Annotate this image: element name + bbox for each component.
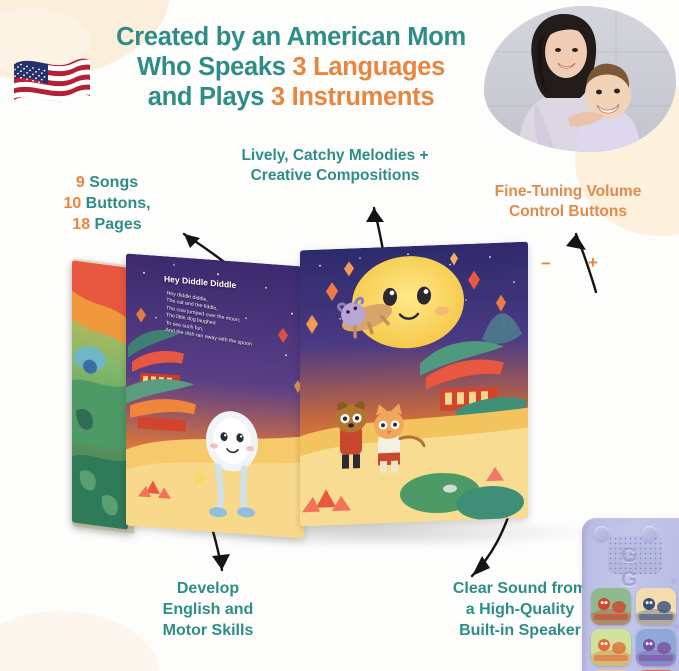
product-infographic: Created by an American Mom Who Speaks 3 … — [0, 0, 679, 671]
sound-button-grid — [591, 588, 679, 671]
mom-and-baby-photo — [484, 6, 676, 152]
headline-line-3-post: Instruments — [285, 83, 434, 111]
headline-line-3: and Plays 3 Instruments — [86, 82, 496, 112]
volume-line-2: Control Buttons — [460, 202, 676, 222]
songs-count: 9 — [76, 174, 85, 191]
us-flag-icon — [10, 52, 94, 114]
buttons-count: 10 — [63, 195, 81, 212]
develop-line-2: English and — [118, 599, 298, 620]
sound-button-children[interactable] — [591, 629, 631, 666]
songs-label: Songs — [85, 174, 138, 191]
book-page-middle: Hey Diddle Diddle Hey diddle diddle, The… — [126, 253, 304, 538]
headline-instruments-count: 3 — [271, 83, 285, 111]
callout-melodies: Lively, Catchy Melodies + Creative Compo… — [190, 146, 480, 186]
volume-up-button[interactable] — [642, 526, 657, 541]
pages-label: Pages — [90, 216, 142, 233]
book-page-right — [300, 242, 528, 527]
headline-line-2: Who Speaks 3 Languages — [86, 52, 496, 82]
develop-line-1: Develop — [118, 578, 298, 599]
brand-logo: G G — [602, 544, 670, 570]
headline-line-2-post: Languages — [306, 53, 445, 81]
headline-languages-count: 3 — [292, 53, 306, 81]
volume-line-1: Fine-Tuning Volume — [460, 182, 676, 202]
sound-module-panel: G G ❄ ❄ ❄ ❄ — [582, 518, 679, 671]
avatar — [484, 6, 676, 152]
callout-songs-buttons-pages: 9 Songs 10 Buttons, 18 Pages — [22, 172, 192, 235]
pages-count: 18 — [72, 216, 90, 233]
develop-line-3: Motor Skills — [118, 620, 298, 641]
sound-book-product-image: Hey Diddle Diddle Hey diddle diddle, The… — [60, 250, 640, 550]
volume-down-button[interactable] — [594, 526, 609, 541]
headline-line-1: Created by an American Mom — [86, 22, 496, 52]
book-page-left — [72, 260, 128, 529]
callout-develop-skills: Develop English and Motor Skills — [118, 578, 298, 641]
melodies-line-1: Lively, Catchy Melodies + — [190, 146, 480, 166]
sound-button-train[interactable] — [591, 588, 631, 625]
sound-button-girl-cat[interactable] — [636, 629, 676, 666]
melodies-line-2: Creative Compositions — [190, 166, 480, 186]
callout-volume-controls: Fine-Tuning Volume Control Buttons — [460, 182, 676, 222]
headline-line-2-pre: Who Speaks — [137, 53, 292, 81]
headline-line-3-pre: and Plays — [148, 83, 271, 111]
sound-button-owls[interactable] — [636, 588, 676, 625]
paw-print-icon: ❄ — [670, 576, 678, 587]
buttons-label: Buttons, — [81, 195, 150, 212]
page-title: Created by an American Mom Who Speaks 3 … — [86, 22, 496, 112]
